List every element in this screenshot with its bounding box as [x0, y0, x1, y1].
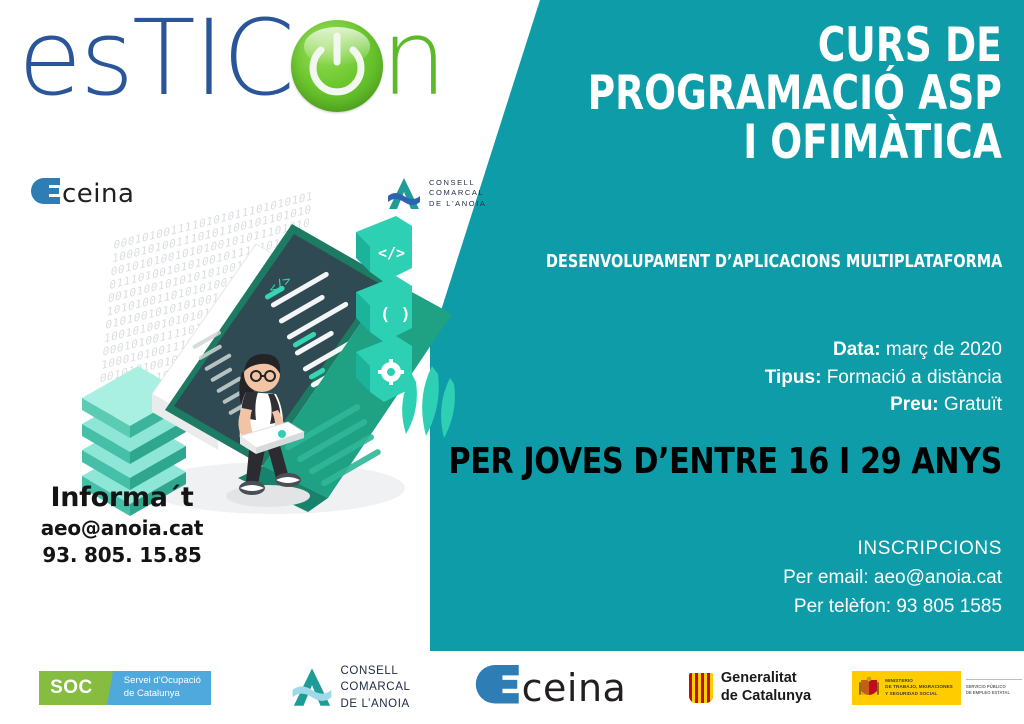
consell-comarcal-logo-top: CONSELL COMARCAL DE L'ANOIA — [386, 177, 486, 210]
esticon-logo: esTICn — [18, 6, 445, 112]
footer-logo-ministerio: MINISTERIO DE TRABAJO, MIGRACIONES Y SEG… — [850, 671, 1024, 705]
ceina-logo-mark — [30, 178, 62, 210]
sepe-text: SERVICIO PÚBLICO DE EMPLEO ESTATAL — [966, 679, 1022, 695]
consell-comarcal-text-footer: CONSELL COMARCAL DE L’ANOIA — [341, 663, 411, 712]
soc-slash-divider — [102, 671, 118, 705]
inscriptions-phone[interactable]: Per telèfon: 93 805 1585 — [783, 593, 1002, 622]
svg-text:( ): ( ) — [380, 305, 411, 325]
soc-subtitle-line-2: de Catalunya — [124, 688, 201, 700]
cca-line-1: CONSELL — [429, 178, 486, 189]
ceina-logo-top: ceina — [30, 178, 134, 210]
generalitat-line-2: de Catalunya — [721, 688, 811, 705]
course-title: CURS DE PROGRAMACIÓ ASP I OFIMÀTICA — [588, 22, 1002, 167]
logo-text-es: es — [18, 0, 132, 119]
generalitat-text: Generalitat de Catalunya — [721, 670, 811, 705]
contact-phone[interactable]: 93. 805. 15.85 — [22, 543, 222, 567]
footer-logo-generalitat: Generalitat de Catalunya — [650, 670, 850, 705]
generalitat-line-1: Generalitat — [721, 670, 811, 687]
cca-line-3: DE L'ANOIA — [429, 199, 486, 210]
detail-label-tipus: Tipus: — [765, 367, 822, 388]
isometric-developer-illustration: </> </> ( ) — [60, 196, 460, 531]
ceina-wordmark-footer: ceina — [522, 666, 627, 710]
footer-logo-soc: SOC Servei d’Ocupació de Catalunya — [0, 671, 250, 705]
ministerio-line-3: Y SEGURIDAD SOCIAL — [885, 691, 953, 697]
footer-logo-ceina: ceina — [450, 665, 650, 710]
soc-subtitle-line-1: Servei d’Ocupació — [124, 675, 201, 687]
cca-line-2: COMARCAL — [429, 188, 486, 199]
ministerio-text: MINISTERIO DE TRABAJO, MIGRACIONES Y SEG… — [885, 678, 953, 697]
cca-footer-line-3: DE L’ANOIA — [341, 696, 411, 712]
ceina-logo-mark-footer — [474, 665, 522, 710]
course-subtitle: DESENVOLUPAMENT D’APLICACIONS MULTIPLATA… — [546, 251, 1002, 272]
consell-comarcal-text: CONSELL COMARCAL DE L'ANOIA — [429, 178, 486, 210]
footer-logo-bar: SOC Servei d’Ocupació de Catalunya CONSE… — [0, 651, 1024, 724]
power-glyph — [291, 20, 383, 112]
consell-comarcal-anoia-mark — [386, 177, 422, 210]
ministerio-logo: MINISTERIO DE TRABAJO, MIGRACIONES Y SEG… — [852, 671, 1022, 705]
detail-row-tipus: Tipus: Formació a distància — [765, 364, 1002, 392]
svg-text:</>: </> — [378, 244, 405, 262]
consell-comarcal-anoia-mark-footer — [290, 667, 334, 707]
detail-row-data: Data: març de 2020 — [765, 336, 1002, 364]
ministerio-yellow-block: MINISTERIO DE TRABAJO, MIGRACIONES Y SEG… — [852, 671, 961, 705]
inscriptions-heading: INSCRIPCIONS — [783, 535, 1002, 564]
cca-footer-line-2: COMARCAL — [341, 679, 411, 695]
consell-comarcal-lockup-footer: CONSELL COMARCAL DE L’ANOIA — [290, 663, 411, 712]
detail-row-preu: Preu: Gratuït — [765, 391, 1002, 419]
course-title-line-2: PROGRAMACIÓ ASP — [588, 70, 1002, 118]
course-title-line-1: CURS DE — [588, 22, 1002, 70]
soc-subtitle: Servei d’Ocupació de Catalunya — [118, 671, 211, 705]
contact-email[interactable]: aeo@anoia.cat — [22, 516, 222, 540]
sepe-line-2: DE EMPLEO ESTATAL — [966, 690, 1022, 696]
course-title-line-3: I OFIMÀTICA — [588, 119, 1002, 167]
audience-banner: PER JOVES D’ENTRE 16 I 29 ANYS — [448, 441, 1002, 482]
logo-text-tic: TIC — [132, 0, 293, 119]
logo-text-n: n — [381, 0, 445, 119]
ceina-wordmark: ceina — [62, 179, 134, 209]
soc-logo: SOC Servei d’Ocupació de Catalunya — [39, 671, 211, 705]
detail-label-data: Data: — [833, 339, 881, 360]
detail-value-tipus: Formació a distància — [827, 367, 1002, 388]
generalitat-logo: Generalitat de Catalunya — [689, 670, 811, 705]
detail-label-preu: Preu: — [890, 394, 939, 415]
contact-title: Informa´t — [22, 482, 222, 513]
footer-logo-consell-comarcal: CONSELL COMARCAL DE L’ANOIA — [250, 663, 450, 712]
cca-footer-line-1: CONSELL — [341, 663, 411, 679]
course-details: Data: març de 2020 Tipus: Formació a dis… — [765, 336, 1002, 419]
soc-acronym: SOC — [39, 671, 102, 705]
inscriptions-block: INSCRIPCIONS Per email: aeo@anoia.cat Pe… — [783, 535, 1002, 622]
ministerio-line-2: DE TRABAJO, MIGRACIONES — [885, 684, 953, 690]
generalitat-shield-icon — [689, 673, 713, 703]
consell-comarcal-lockup: CONSELL COMARCAL DE L'ANOIA — [386, 177, 486, 210]
spain-coat-of-arms-icon — [858, 676, 880, 700]
poster-canvas: esTICn ceina CONSELL COMARCAL DE L'ANOIA… — [0, 0, 1024, 724]
detail-value-data: març de 2020 — [886, 339, 1002, 360]
power-button-icon — [291, 20, 383, 112]
contact-block: Informa´t aeo@anoia.cat 93. 805. 15.85 — [22, 482, 222, 567]
inscriptions-email[interactable]: Per email: aeo@anoia.cat — [783, 564, 1002, 593]
detail-value-preu: Gratuït — [944, 394, 1002, 415]
